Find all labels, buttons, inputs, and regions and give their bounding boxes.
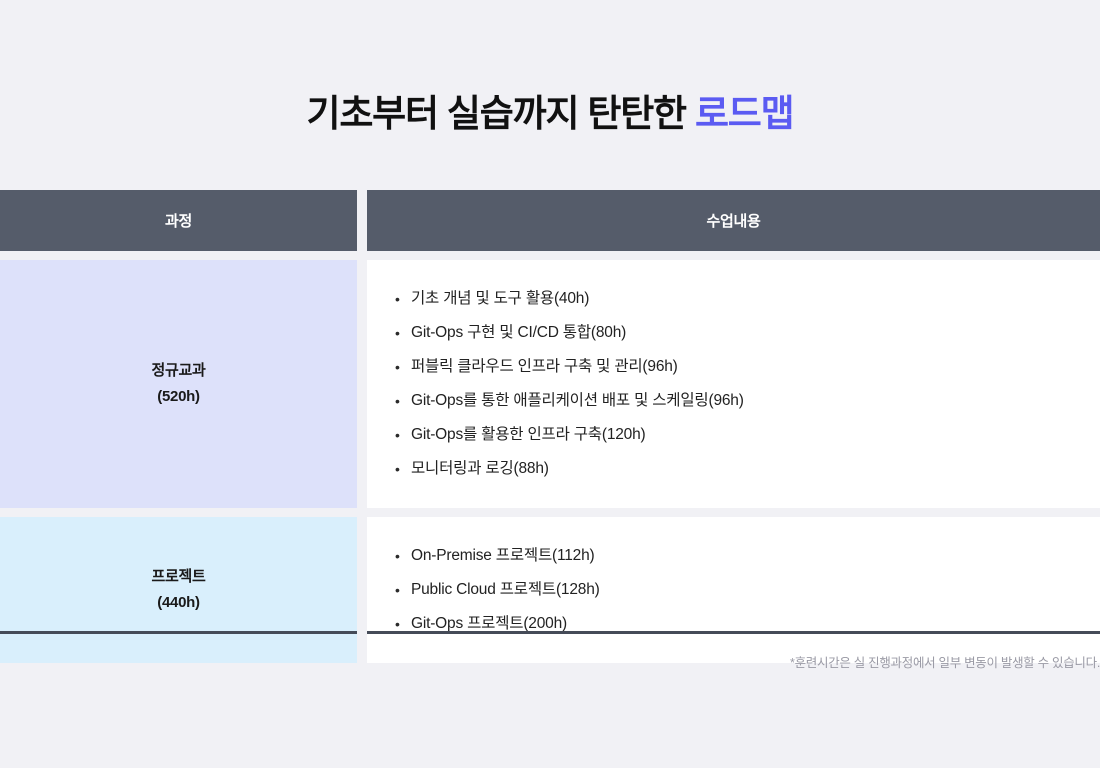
course-cell-regular: 정규교과 (520h) bbox=[0, 260, 357, 508]
content-cell-project: On-Premise 프로젝트(112h) Public Cloud 프로젝트(… bbox=[367, 517, 1100, 663]
content-cell-regular: 기초 개념 및 도구 활용(40h) Git-Ops 구현 및 CI/CD 통합… bbox=[367, 260, 1100, 508]
roadmap-page: 기초부터 실습까지 탄탄한 로드맵 과정 수업내용 정규교과 (520h) 기초… bbox=[0, 0, 1100, 768]
page-title-accent: 로드맵 bbox=[695, 93, 794, 134]
list-item: 모니터링과 로깅(88h) bbox=[395, 452, 1100, 486]
list-item: On-Premise 프로젝트(112h) bbox=[395, 539, 1100, 573]
page-title: 기초부터 실습까지 탄탄한 로드맵 bbox=[0, 92, 1100, 136]
footnote: *훈련시간은 실 진행과정에서 일부 변동이 발생할 수 있습니다. bbox=[0, 652, 1100, 671]
list-item: 퍼블릭 클라우드 인프라 구축 및 관리(96h) bbox=[395, 350, 1100, 384]
table-row: 프로젝트 (440h) On-Premise 프로젝트(112h) Public… bbox=[0, 517, 1100, 663]
table-header-course-label: 과정 bbox=[165, 210, 192, 231]
curriculum-table: 과정 수업내용 정규교과 (520h) 기초 개념 및 도구 활용(40h) G… bbox=[0, 190, 1100, 672]
course-name-regular: 정규교과 bbox=[151, 358, 205, 384]
curriculum-list-project: On-Premise 프로젝트(112h) Public Cloud 프로젝트(… bbox=[395, 539, 1100, 641]
course-cell-project: 프로젝트 (440h) bbox=[0, 517, 357, 663]
page-title-main: 기초부터 실습까지 탄탄한 bbox=[306, 93, 694, 134]
table-header-course-cell: 과정 bbox=[0, 190, 357, 251]
table-bottom-divider bbox=[0, 631, 1100, 634]
table-header-content-cell: 수업내용 bbox=[367, 190, 1100, 251]
course-hours-regular: (520h) bbox=[157, 384, 199, 410]
table-header-row: 과정 수업내용 bbox=[0, 190, 1100, 251]
list-item: Git-Ops를 활용한 인프라 구축(120h) bbox=[395, 418, 1100, 452]
list-item: 기초 개념 및 도구 활용(40h) bbox=[395, 282, 1100, 316]
divider-segment-left bbox=[0, 631, 357, 634]
course-hours-project: (440h) bbox=[157, 590, 199, 616]
course-name-project: 프로젝트 bbox=[151, 564, 205, 590]
list-item: Public Cloud 프로젝트(128h) bbox=[395, 573, 1100, 607]
list-item: Git-Ops 구현 및 CI/CD 통합(80h) bbox=[395, 316, 1100, 350]
page-title-text: 기초부터 실습까지 탄탄한 로드맵 bbox=[0, 92, 1100, 136]
table-header-content-label: 수업내용 bbox=[706, 210, 760, 231]
list-item: Git-Ops를 통한 애플리케이션 배포 및 스케일링(96h) bbox=[395, 384, 1100, 418]
list-item: Git-Ops 프로젝트(200h) bbox=[395, 607, 1100, 641]
curriculum-list-regular: 기초 개념 및 도구 활용(40h) Git-Ops 구현 및 CI/CD 통합… bbox=[395, 282, 1100, 486]
divider-segment-right bbox=[367, 631, 1100, 634]
table-row: 정규교과 (520h) 기초 개념 및 도구 활용(40h) Git-Ops 구… bbox=[0, 260, 1100, 508]
